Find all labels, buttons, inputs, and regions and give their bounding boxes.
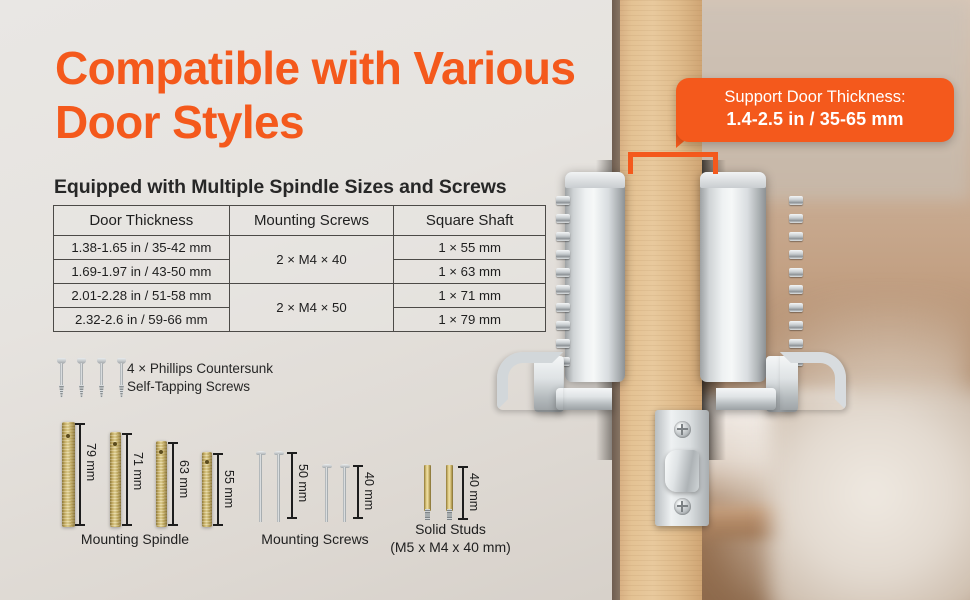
screw-shaft bbox=[259, 454, 262, 522]
stud-threaded-tip bbox=[447, 509, 452, 520]
mounting-spindle-55mm bbox=[202, 452, 212, 527]
screw-shaft bbox=[343, 467, 346, 522]
infographic-stage: Support Door Thickness: 1.4-2.5 in / 35-… bbox=[0, 0, 970, 600]
screw-shaft bbox=[277, 454, 280, 522]
stud-size-40mm: 40 mm bbox=[467, 473, 481, 511]
spindle-hole bbox=[113, 442, 117, 446]
phillips-label-line-1: 4 × Phillips Countersunk bbox=[127, 360, 273, 378]
parts-diagram: 4 × Phillips Countersunk Self-Tapping Sc… bbox=[0, 0, 970, 600]
spindle-size-71mm: 71 mm bbox=[131, 452, 145, 490]
solid-stud bbox=[424, 465, 431, 511]
phillips-screws-label: 4 × Phillips Countersunk Self-Tapping Sc… bbox=[127, 360, 273, 396]
screw-shaft bbox=[325, 467, 328, 522]
phillips-screw-icon bbox=[97, 358, 106, 398]
dimension-line-50mm bbox=[291, 452, 293, 519]
dimension-line-79mm bbox=[79, 423, 81, 526]
screw-thread bbox=[79, 385, 84, 398]
phillips-label-line-2: Self-Tapping Screws bbox=[127, 378, 273, 396]
screw-thread bbox=[99, 385, 104, 398]
screw-thread bbox=[119, 385, 124, 398]
caption-mounting-spindle: Mounting Spindle bbox=[60, 531, 210, 549]
spindle-hole bbox=[66, 434, 70, 438]
phillips-screws-group bbox=[57, 358, 126, 398]
dimension-line-55mm bbox=[217, 453, 219, 526]
caption-solid-studs: Solid Studs (M5 x M4 x 40 mm) bbox=[378, 521, 523, 557]
spindle-hole bbox=[159, 450, 163, 454]
spindle-size-55mm: 55 mm bbox=[222, 470, 236, 508]
phillips-screw-icon bbox=[117, 358, 126, 398]
spindle-size-79mm: 79 mm bbox=[84, 443, 98, 481]
solid-stud bbox=[446, 465, 453, 511]
stud-threaded-tip bbox=[425, 509, 430, 520]
dimension-line-40mm-stud bbox=[462, 466, 464, 520]
phillips-screw-icon bbox=[57, 358, 66, 398]
mounting-spindle-63mm bbox=[156, 441, 167, 527]
caption-mounting-screws: Mounting Screws bbox=[240, 531, 390, 549]
phillips-screw-icon bbox=[77, 358, 86, 398]
dimension-line-71mm bbox=[126, 433, 128, 526]
dimension-line-40mm-screw bbox=[357, 465, 359, 519]
mounting-spindle-79mm bbox=[62, 422, 75, 527]
spindle-size-63mm: 63 mm bbox=[177, 460, 191, 498]
mounting-screw-size-50mm: 50 mm bbox=[296, 464, 310, 502]
solid-studs-line-2: (M5 x M4 x 40 mm) bbox=[378, 539, 523, 557]
mounting-screw-size-40mm: 40 mm bbox=[362, 472, 376, 510]
mounting-spindle-71mm bbox=[110, 432, 121, 527]
dimension-line-63mm bbox=[172, 442, 174, 526]
solid-studs-line-1: Solid Studs bbox=[378, 521, 523, 539]
spindle-hole bbox=[205, 460, 209, 464]
screw-thread bbox=[59, 385, 64, 398]
